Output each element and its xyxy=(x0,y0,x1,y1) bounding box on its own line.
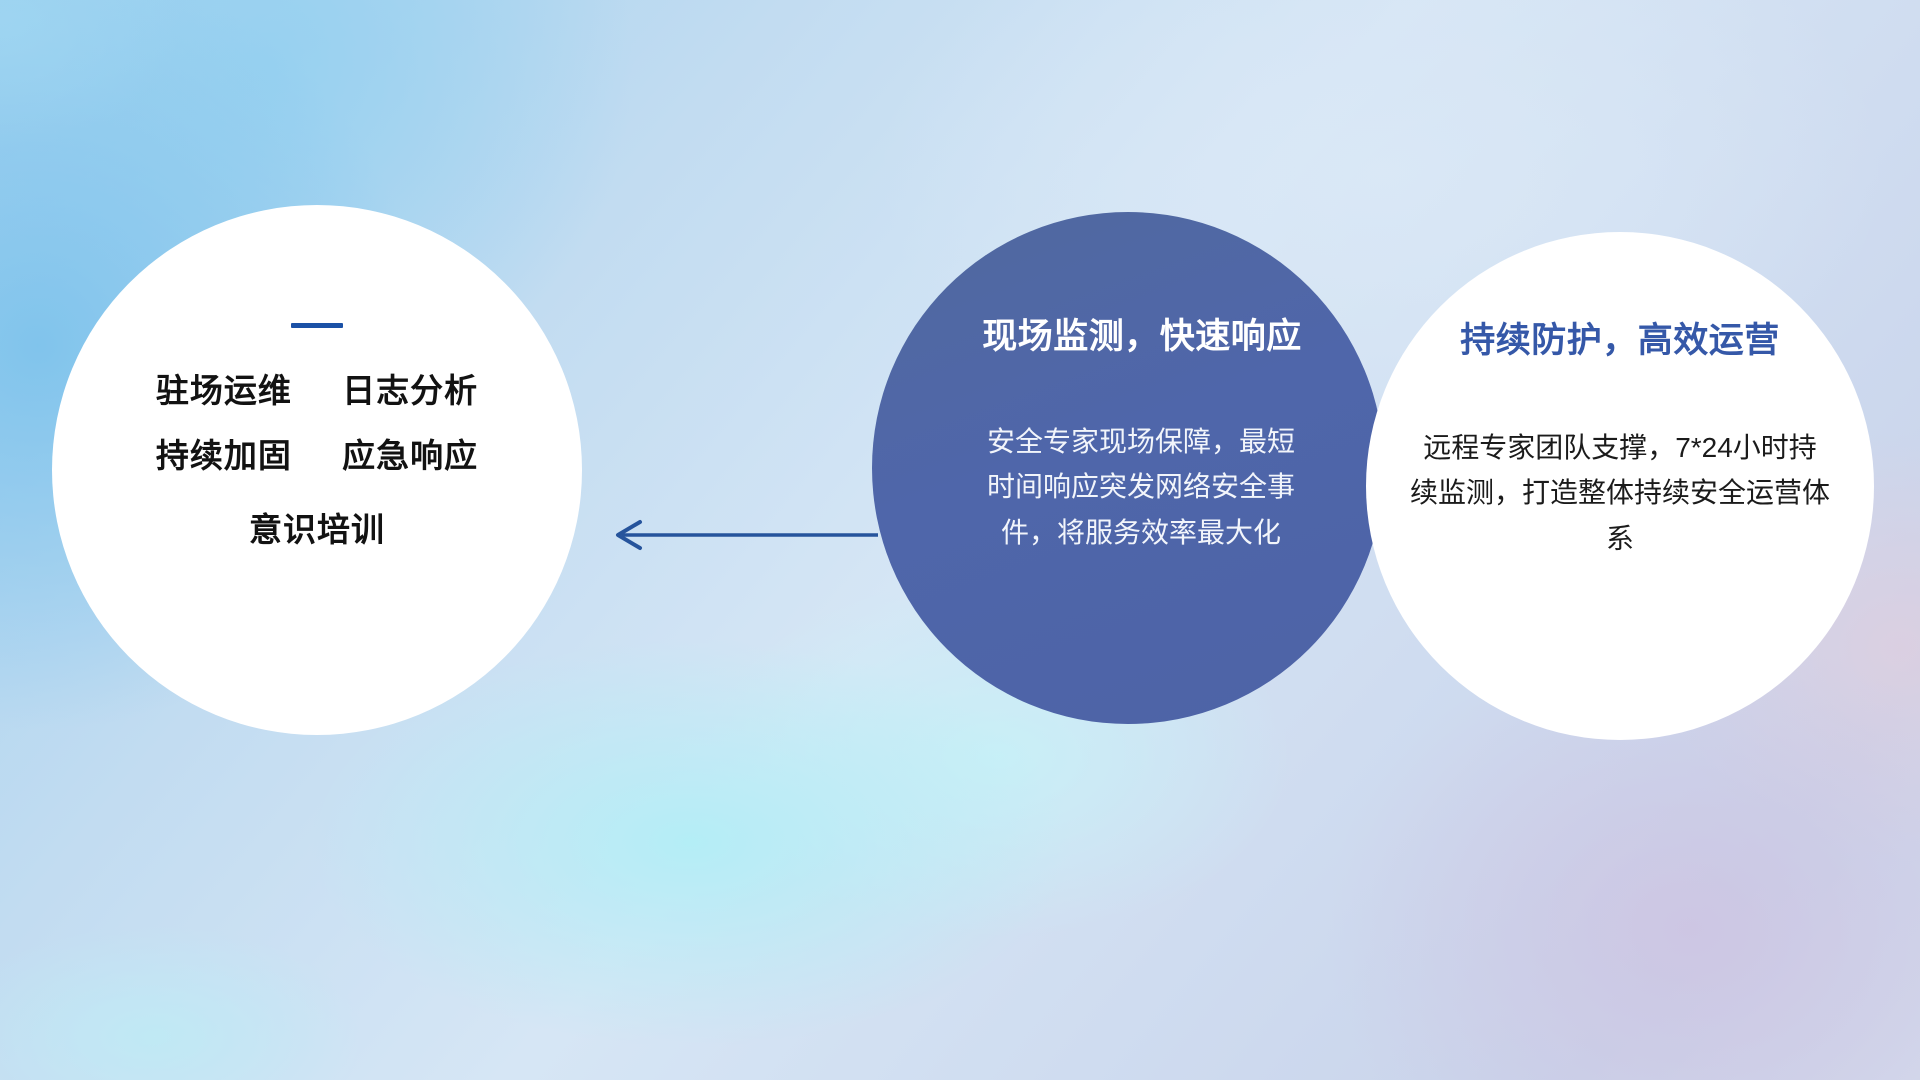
left-item-5: 意识培训 xyxy=(249,511,385,549)
diagram-stage: 驻场运维 日志分析 持续加固 应急响应 意识培训 现场监测，快速响应 安全专家现… xyxy=(0,0,1920,1080)
accent-divider-rule xyxy=(291,323,343,328)
right-circle-title: 持续防护，高效运营 xyxy=(1460,312,1780,363)
right-circle-body: 远程专家团队支撑，7*24小时持续监测，打造整体持续安全运营体系 xyxy=(1410,425,1830,561)
left-service-circle[interactable]: 驻场运维 日志分析 持续加固 应急响应 意识培训 xyxy=(52,205,582,735)
left-circle-line-1: 驻场运维 日志分析 xyxy=(156,372,478,410)
flow-arrow-icon xyxy=(600,515,880,555)
left-item-3: 持续加固 xyxy=(156,437,292,474)
middle-onsite-circle[interactable] xyxy=(872,212,1384,724)
left-circle-line-2: 持续加固 应急响应 xyxy=(156,437,478,475)
left-item-2: 日志分析 xyxy=(342,372,478,409)
right-circle-content: 持续防护，高效运营 远程专家团队支撑，7*24小时持续监测，打造整体持续安全运营… xyxy=(1366,232,1874,740)
left-item-4: 应急响应 xyxy=(342,437,478,474)
left-item-1: 驻场运维 xyxy=(156,372,292,409)
